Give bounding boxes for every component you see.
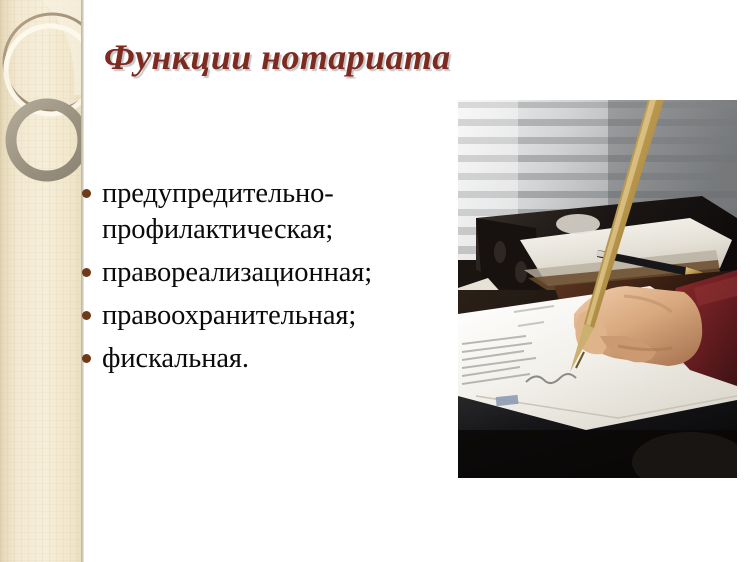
- list-item-label: предупредительно-профилактическая;: [102, 176, 454, 248]
- list-item-label: правореализационная;: [102, 255, 372, 291]
- list-item: фискальная.: [82, 341, 454, 377]
- band-circles-decoration: [0, 0, 81, 200]
- photo-artwork: [458, 100, 737, 478]
- functions-bullet-list: предупредительно-профилактическая; право…: [82, 176, 454, 384]
- bullet-dot-icon: [82, 311, 91, 320]
- cream-ring-overlap: [6, 26, 81, 70]
- page-title: Функции нотариата: [104, 36, 451, 78]
- decorative-side-band: [0, 0, 81, 562]
- list-item: правоохранительная;: [82, 298, 454, 334]
- bullet-dot-icon: [82, 189, 91, 198]
- list-item: правореализационная;: [82, 255, 454, 291]
- tray-cutout: [494, 241, 506, 263]
- list-item-label: фискальная.: [102, 341, 249, 377]
- list-item-label: правоохранительная;: [102, 298, 356, 334]
- slide-canvas: Функции нотариата предупредительно-профи…: [0, 0, 750, 562]
- notary-signing-document-photo: [458, 100, 737, 478]
- tray-cutout: [515, 261, 527, 283]
- bullet-dot-icon: [82, 354, 91, 363]
- list-item: предупредительно-профилактическая;: [82, 176, 454, 248]
- bullet-dot-icon: [82, 268, 91, 277]
